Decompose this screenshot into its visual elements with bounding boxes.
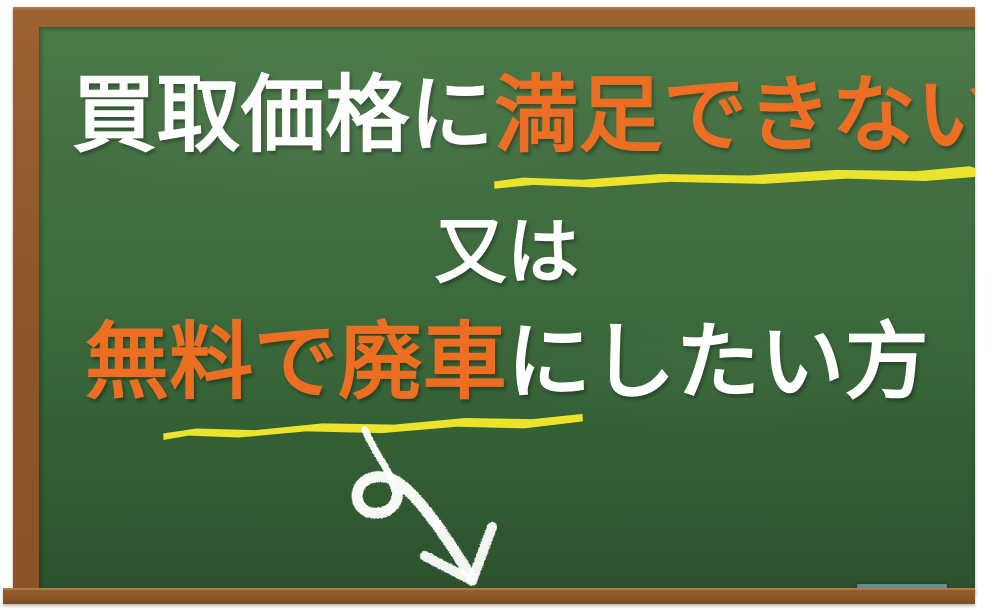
headline-line-1-white-segment: 買取価格に [72,68,494,162]
chalk-arrow-icon [329,425,569,595]
headline-line-3-white-segment: にしたい方 [507,315,929,409]
blackboard-surface: 買取価格に満足できない 又は 無料で廃車にしたい方 [39,27,975,595]
headline-line-2: 又は [39,217,975,289]
chalk-underline-line-1 [494,165,975,190]
headline-line-3-orange-segment: 無料で廃車 [85,315,507,409]
blackboard-frame: 買取価格に満足できない 又は 無料で廃車にしたい方 [13,7,975,595]
chalk-underline-line-3 [163,412,583,441]
blackboard-banner: 買取価格に満足できない 又は 無料で廃車にしたい方 [0,0,1000,610]
chalk-tray [3,588,975,604]
headline-line-2-white-segment: 又は [435,213,580,293]
headline-line-1: 買取価格に満足できない [39,73,975,157]
headline-line-1-orange-segment: 満足できない [494,68,975,162]
headline-line-3: 無料で廃車にしたい方 [39,320,975,404]
